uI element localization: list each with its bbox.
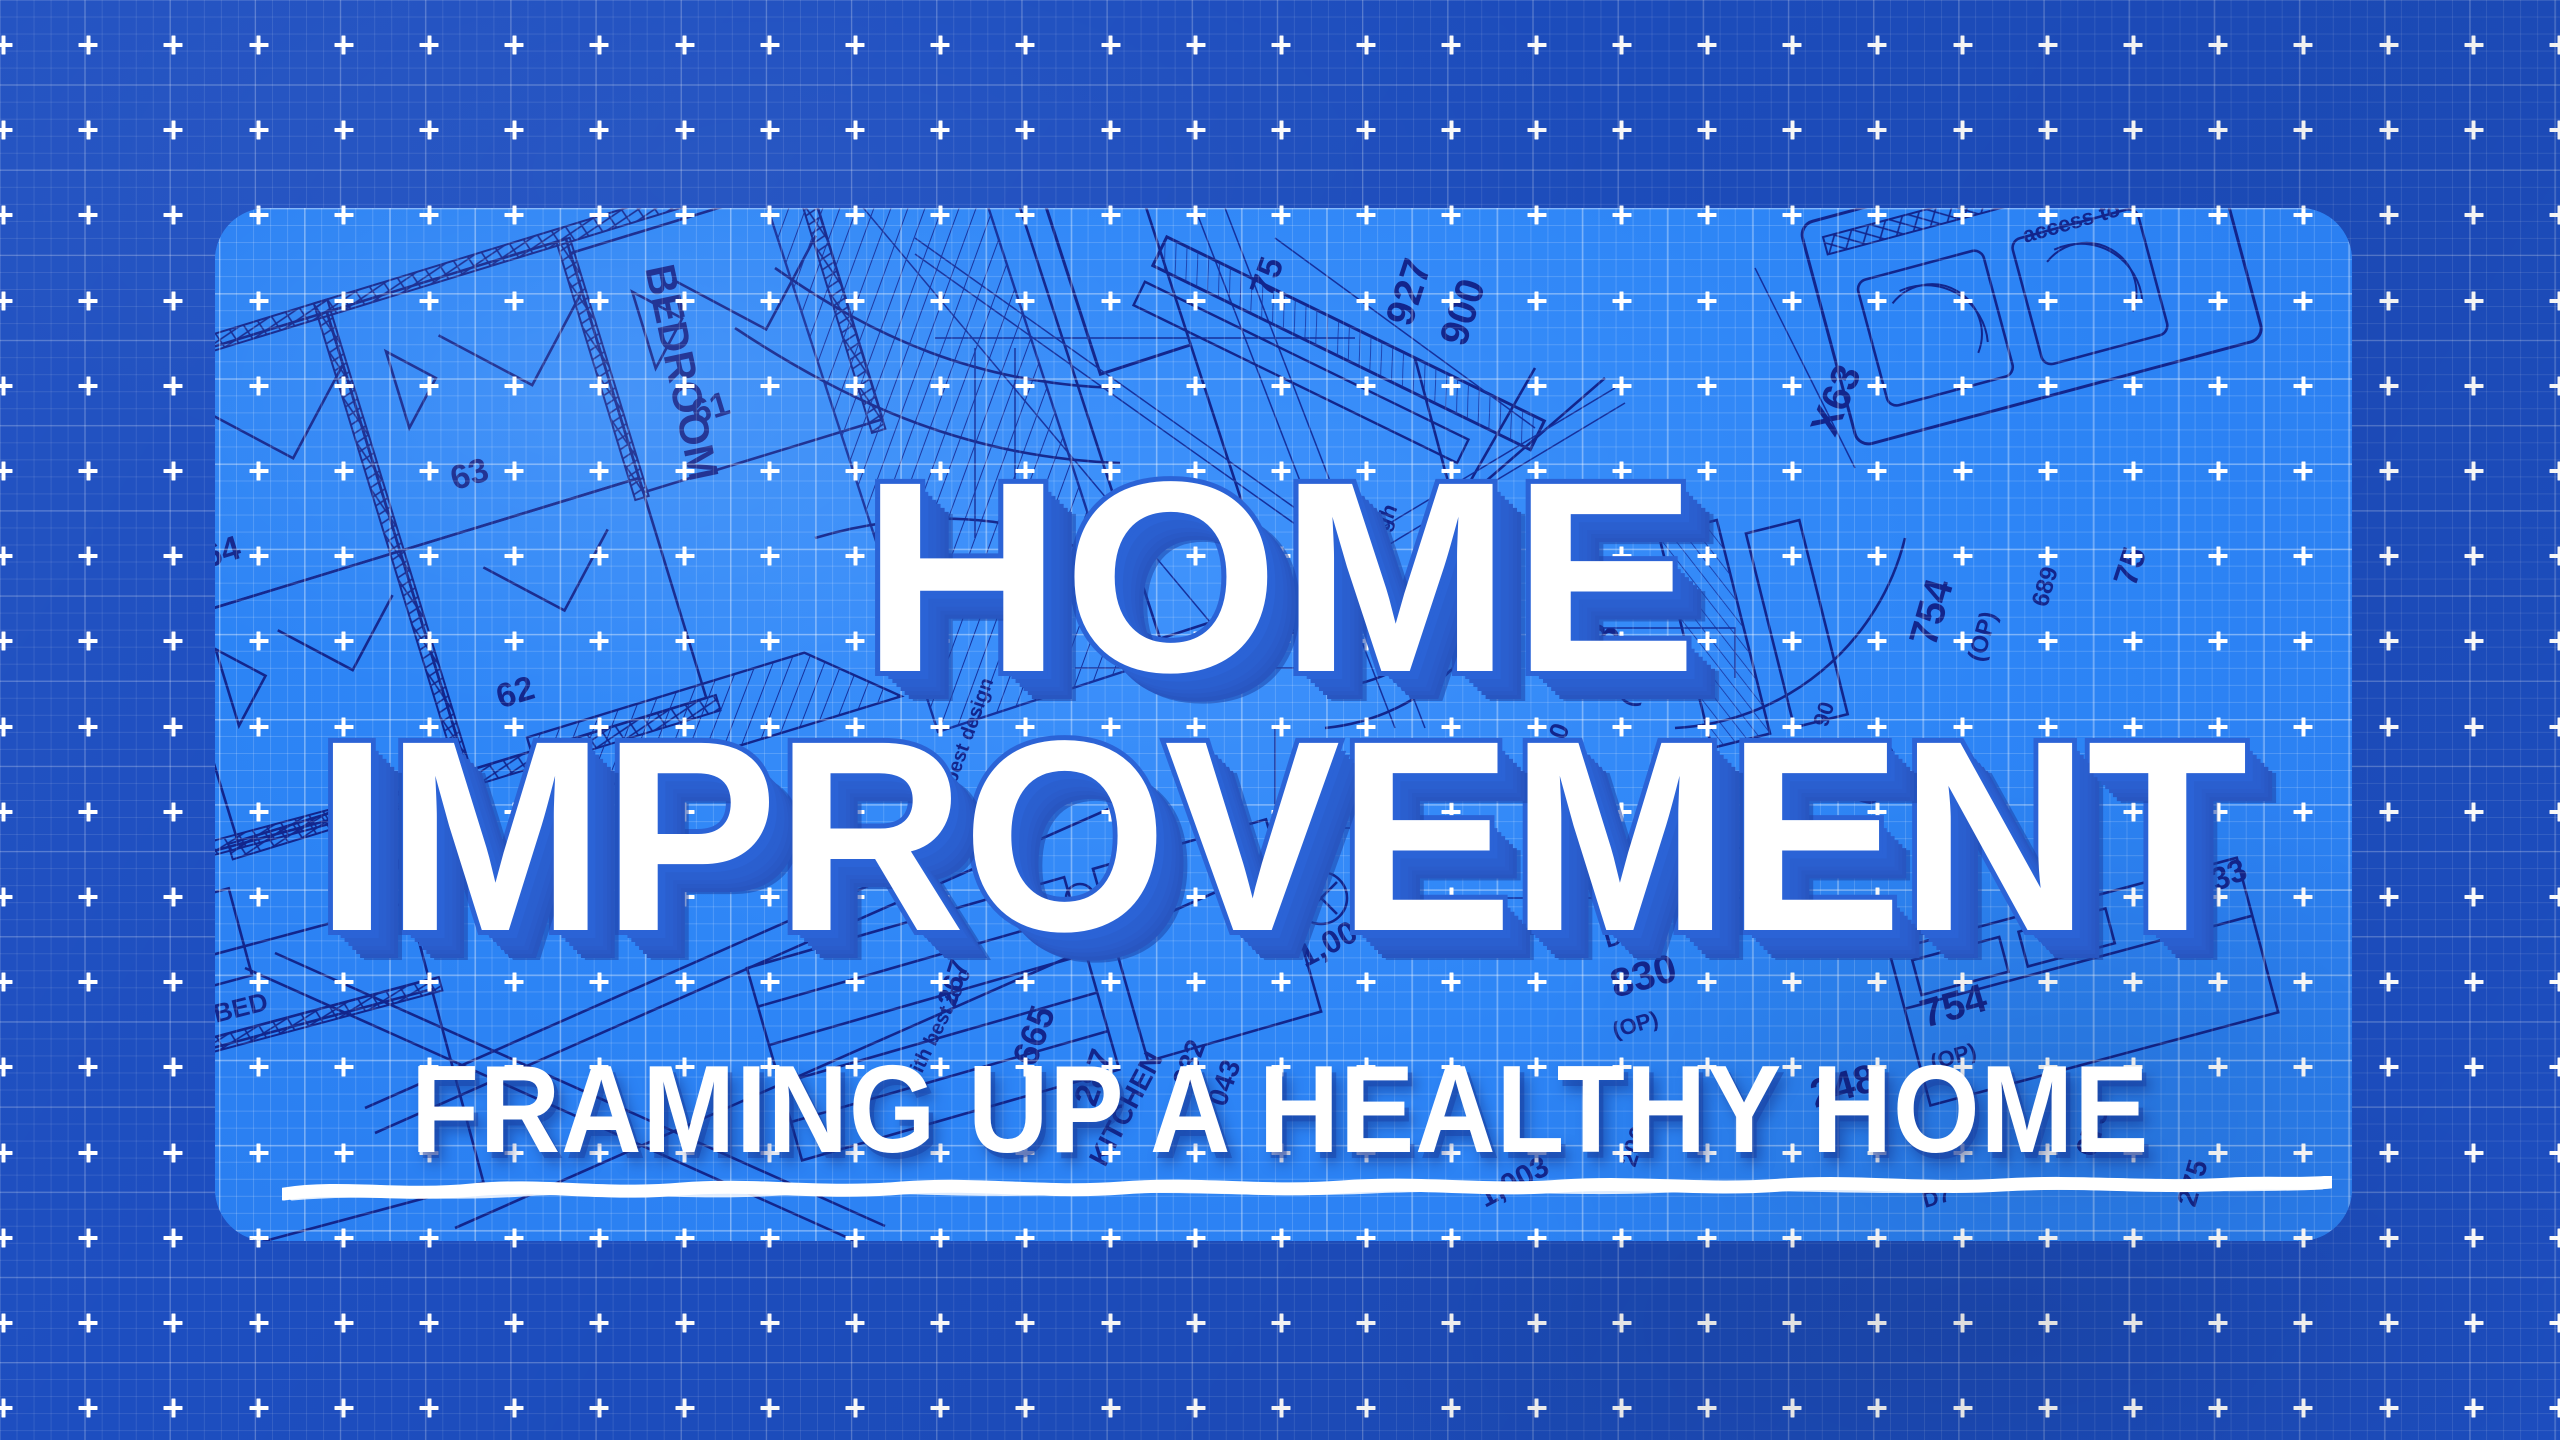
grid-plus-mark: [2209, 213, 2228, 217]
grid-plus-mark: [1272, 639, 1291, 643]
grid-plus-mark: [1868, 980, 1887, 984]
grid-plus-mark: [1101, 554, 1120, 558]
grid-plus-mark: [1186, 725, 1205, 729]
grid-plus-mark: [2550, 469, 2560, 473]
grid-plus-mark: [1272, 554, 1291, 558]
grid-plus-mark: [760, 895, 779, 899]
grid-plus-mark: [1612, 895, 1631, 899]
grid-plus-mark: [249, 639, 268, 643]
grid-plus-mark: [1186, 128, 1205, 132]
grid-plus-mark: [1272, 213, 1291, 217]
grid-plus-mark: [79, 1151, 98, 1155]
grid-plus-mark: [1357, 639, 1376, 643]
grid-plus-mark: [0, 1151, 13, 1155]
grid-plus-mark: [1357, 43, 1376, 47]
grid-plus-mark: [1868, 384, 1887, 388]
grid-plus-mark: [164, 639, 183, 643]
grid-plus-mark: [164, 43, 183, 47]
grid-plus-mark: [2209, 299, 2228, 303]
grid-plus-mark: [1783, 1151, 1802, 1155]
grid-plus-mark: [846, 1236, 865, 1240]
grid-plus-mark: [249, 213, 268, 217]
grid-plus-mark: [420, 469, 439, 473]
grid-plus-mark: [2464, 128, 2483, 132]
grid-plus-mark: [505, 1236, 524, 1240]
grid-plus-mark: [2124, 980, 2143, 984]
grid-plus-mark: [2379, 128, 2398, 132]
grid-plus-mark: [1527, 810, 1546, 814]
grid-plus-mark: [2124, 1065, 2143, 1069]
grid-plus-mark: [1101, 1406, 1120, 1410]
grid-plus-mark: [79, 43, 98, 47]
grid-plus-mark: [1357, 469, 1376, 473]
grid-plus-mark: [2294, 469, 2313, 473]
grid-plus-mark: [1272, 1151, 1291, 1155]
grid-plus-mark: [0, 895, 13, 899]
grid-plus-mark: [164, 469, 183, 473]
grid-plus-mark: [1442, 1151, 1461, 1155]
grid-plus-mark: [1783, 980, 1802, 984]
grid-plus-mark: [1612, 469, 1631, 473]
grid-plus-mark: [2294, 384, 2313, 388]
grid-plus-mark: [2124, 128, 2143, 132]
grid-plus-mark: [846, 128, 865, 132]
grid-plus-mark: [2124, 1321, 2143, 1325]
grid-plus-mark: [675, 213, 694, 217]
grid-plus-mark: [931, 980, 950, 984]
grid-plus-mark: [0, 43, 13, 47]
grid-plus-mark: [2209, 1236, 2228, 1240]
grid-plus-mark: [2209, 1151, 2228, 1155]
grid-plus-mark: [590, 554, 609, 558]
grid-plus-mark: [931, 810, 950, 814]
grid-plus-mark: [1868, 1151, 1887, 1155]
grid-plus-mark: [1527, 554, 1546, 558]
grid-plus-mark: [1016, 1065, 1035, 1069]
grid-plus-mark: [1783, 469, 1802, 473]
grid-plus-mark: [2209, 43, 2228, 47]
grid-plus-mark: [0, 1236, 13, 1240]
grid-plus-mark: [1868, 554, 1887, 558]
grid-plus-mark: [1272, 299, 1291, 303]
grid-plus-mark: [1442, 1065, 1461, 1069]
grid-plus-mark: [1527, 980, 1546, 984]
grid-plus-mark: [1953, 213, 1972, 217]
grid-plus-mark: [1442, 554, 1461, 558]
grid-plus-mark: [590, 128, 609, 132]
grid-plus-mark: [590, 469, 609, 473]
grid-plus-mark: [2209, 895, 2228, 899]
grid-plus-mark: [1101, 980, 1120, 984]
grid-plus-mark: [420, 1151, 439, 1155]
grid-plus-mark: [334, 43, 353, 47]
grid-plus-mark: [846, 1151, 865, 1155]
grid-plus-mark: [249, 469, 268, 473]
grid-plus-mark: [1612, 1151, 1631, 1155]
grid-plus-mark: [760, 469, 779, 473]
grid-plus-mark: [675, 639, 694, 643]
grid-plus-mark: [1953, 384, 1972, 388]
grid-plus-mark: [760, 1236, 779, 1240]
grid-plus-mark: [249, 725, 268, 729]
grid-plus-mark: [1953, 980, 1972, 984]
grid-plus-mark: [2209, 1065, 2228, 1069]
grid-plus-mark: [2464, 639, 2483, 643]
grid-plus-mark: [2038, 1065, 2057, 1069]
grid-plus-mark: [1953, 1065, 1972, 1069]
grid-plus-mark: [1272, 895, 1291, 899]
grid-plus-mark: [590, 1151, 609, 1155]
grid-plus-mark: [420, 299, 439, 303]
grid-plus-mark: [1868, 895, 1887, 899]
grid-plus-mark: [1783, 384, 1802, 388]
grid-plus-mark: [1868, 213, 1887, 217]
grid-plus-mark: [1016, 895, 1035, 899]
grid-plus-mark: [1101, 128, 1120, 132]
grid-plus-mark: [1612, 1236, 1631, 1240]
grid-plus-mark: [1016, 1406, 1035, 1410]
grid-plus-mark: [760, 299, 779, 303]
grid-plus-mark: [1698, 639, 1717, 643]
grid-plus-mark: [1783, 1406, 1802, 1410]
grid-plus-mark: [0, 1406, 13, 1410]
grid-plus-mark: [2124, 895, 2143, 899]
grid-plus-mark: [1016, 810, 1035, 814]
grid-plus-mark: [1527, 1065, 1546, 1069]
grid-plus-mark: [79, 299, 98, 303]
grid-plus-mark: [2294, 1236, 2313, 1240]
grid-plus-mark: [2294, 725, 2313, 729]
grid-plus-mark: [1527, 128, 1546, 132]
grid-plus-mark: [1868, 1321, 1887, 1325]
grid-plus-mark: [2038, 810, 2057, 814]
grid-plus-mark: [0, 725, 13, 729]
grid-plus-mark: [1783, 810, 1802, 814]
grid-plus-mark: [1953, 1151, 1972, 1155]
grid-plus-mark: [2379, 725, 2398, 729]
grid-plus-mark: [1357, 980, 1376, 984]
grid-plus-mark: [1698, 1406, 1717, 1410]
grid-plus-mark: [505, 554, 524, 558]
grid-plus-mark: [1101, 895, 1120, 899]
grid-plus-mark: [2209, 1406, 2228, 1410]
grid-plus-mark: [590, 639, 609, 643]
grid-plus-mark: [675, 384, 694, 388]
grid-plus-mark: [931, 1151, 950, 1155]
grid-plus-mark: [0, 469, 13, 473]
grid-plus-mark: [420, 384, 439, 388]
grid-plus-mark: [2379, 980, 2398, 984]
grid-plus-mark: [931, 639, 950, 643]
grid-plus-mark: [1698, 1321, 1717, 1325]
grid-plus-mark: [2294, 43, 2313, 47]
grid-plus-mark: [1357, 128, 1376, 132]
grid-plus-mark: [79, 1321, 98, 1325]
grid-plus-mark: [164, 810, 183, 814]
grid-plus-mark: [1442, 810, 1461, 814]
grid-plus-mark: [2124, 1236, 2143, 1240]
grid-plus-mark: [1357, 384, 1376, 388]
grid-plus-mark: [2294, 639, 2313, 643]
grid-plus-mark: [2209, 1321, 2228, 1325]
grid-plus-mark: [1016, 128, 1035, 132]
grid-plus-mark: [2464, 810, 2483, 814]
grid-plus-mark: [334, 1065, 353, 1069]
grid-plus-mark: [1612, 639, 1631, 643]
grid-plus-mark: [1186, 810, 1205, 814]
grid-plus-mark: [0, 128, 13, 132]
grid-plus-mark: [1442, 213, 1461, 217]
grid-plus-mark: [1186, 895, 1205, 899]
grid-plus-mark: [1783, 1065, 1802, 1069]
grid-plus-mark: [1527, 299, 1546, 303]
grid-plus-mark: [2550, 384, 2560, 388]
grid-plus-mark: [164, 1151, 183, 1155]
grid-plus-mark: [2464, 43, 2483, 47]
grid-plus-mark: [1272, 725, 1291, 729]
grid-plus-mark: [249, 810, 268, 814]
grid-plus-mark: [1442, 128, 1461, 132]
grid-plus-mark: [931, 725, 950, 729]
grid-plus-mark: [2209, 810, 2228, 814]
grid-plus-mark: [1442, 639, 1461, 643]
grid-plus-mark: [2550, 1406, 2560, 1410]
grid-plus-mark: [1868, 299, 1887, 303]
grid-plus-mark: [1612, 725, 1631, 729]
grid-plus-mark: [846, 980, 865, 984]
grid-plus-mark: [760, 1406, 779, 1410]
grid-plus-mark: [420, 895, 439, 899]
grid-plus-mark: [164, 895, 183, 899]
grid-plus-mark: [931, 213, 950, 217]
grid-plus-mark: [931, 43, 950, 47]
grid-plus-mark: [1357, 1151, 1376, 1155]
grid-plus-mark: [2379, 43, 2398, 47]
grid-plus-mark: [2294, 554, 2313, 558]
grid-plus-mark: [2550, 725, 2560, 729]
grid-plus-mark: [2209, 980, 2228, 984]
grid-plus-mark: [931, 299, 950, 303]
grid-plus-mark: [1101, 1151, 1120, 1155]
grid-plus-mark: [1953, 1236, 1972, 1240]
grid-plus-mark: [846, 213, 865, 217]
grid-plus-mark: [1612, 213, 1631, 217]
blueprint-panel: 64 63 62 61 ME BEDROOM: [215, 208, 2352, 1241]
grid-plus-mark: [1016, 980, 1035, 984]
grid-plus-mark: [1527, 1321, 1546, 1325]
grid-plus-mark: [79, 1065, 98, 1069]
grid-plus-mark: [931, 469, 950, 473]
grid-plus-mark: [1783, 213, 1802, 217]
grid-plus-mark: [79, 895, 98, 899]
grid-plus-mark: [2294, 810, 2313, 814]
grid-plus-mark: [2124, 384, 2143, 388]
grid-plus-mark: [1442, 469, 1461, 473]
grid-plus-mark: [334, 554, 353, 558]
grid-plus-mark: [1442, 1406, 1461, 1410]
grid-plus-mark: [1698, 554, 1717, 558]
grid-plus-mark: [164, 980, 183, 984]
grid-plus-mark: [1783, 299, 1802, 303]
grid-plus-mark: [846, 1321, 865, 1325]
grid-plus-mark: [2038, 554, 2057, 558]
grid-plus-mark: [931, 895, 950, 899]
grid-plus-mark: [2038, 639, 2057, 643]
grid-plus-mark: [1527, 1151, 1546, 1155]
grid-plus-mark: [1698, 213, 1717, 217]
grid-plus-mark: [1612, 43, 1631, 47]
grid-plus-mark: [760, 810, 779, 814]
grid-plus-mark: [1783, 1236, 1802, 1240]
grid-plus-mark: [505, 1151, 524, 1155]
grid-plus-mark: [1186, 43, 1205, 47]
grid-plus-mark: [2124, 1406, 2143, 1410]
grid-plus-mark: [2209, 725, 2228, 729]
grid-plus-mark: [505, 810, 524, 814]
grid-plus-mark: [1868, 639, 1887, 643]
grid-plus-mark: [1783, 639, 1802, 643]
grid-plus-mark: [1698, 725, 1717, 729]
grid-plus-mark: [1442, 725, 1461, 729]
grid-plus-mark: [2124, 810, 2143, 814]
grid-plus-mark: [505, 469, 524, 473]
grid-plus-mark: [2550, 554, 2560, 558]
grid-plus-mark: [675, 1065, 694, 1069]
grid-plus-mark: [1612, 299, 1631, 303]
grid-plus-mark: [2124, 725, 2143, 729]
grid-plus-mark: [1442, 1236, 1461, 1240]
grid-plus-mark: [505, 1321, 524, 1325]
grid-plus-mark: [249, 1151, 268, 1155]
grid-plus-mark: [2294, 1406, 2313, 1410]
grid-plus-mark: [1953, 43, 1972, 47]
grid-plus-mark: [1186, 1065, 1205, 1069]
grid-plus-mark: [420, 128, 439, 132]
grid-plus-mark: [1783, 554, 1802, 558]
grid-plus-mark: [1953, 810, 1972, 814]
grid-plus-mark: [1272, 1406, 1291, 1410]
grid-plus-mark: [1016, 469, 1035, 473]
grid-plus-mark: [249, 554, 268, 558]
grid-plus-mark: [249, 1236, 268, 1240]
grid-plus-mark: [1101, 43, 1120, 47]
grid-plus-mark: [505, 639, 524, 643]
grid-plus-mark: [675, 1406, 694, 1410]
grid-plus-mark: [1953, 128, 1972, 132]
grid-plus-mark: [164, 299, 183, 303]
grid-plus-mark: [164, 128, 183, 132]
grid-plus-mark: [1868, 1406, 1887, 1410]
grid-plus-mark: [420, 639, 439, 643]
grid-plus-mark: [334, 1151, 353, 1155]
grid-plus-mark: [590, 213, 609, 217]
grid-plus-mark: [846, 895, 865, 899]
grid-plus-mark: [164, 384, 183, 388]
grid-plus-mark: [1868, 128, 1887, 132]
grid-plus-mark: [2038, 725, 2057, 729]
grid-plus-mark: [505, 43, 524, 47]
grid-plus-mark: [1783, 43, 1802, 47]
grid-plus-mark: [2294, 980, 2313, 984]
grid-plus-mark: [2550, 1236, 2560, 1240]
grid-plus-mark: [760, 213, 779, 217]
grid-plus-mark: [2124, 554, 2143, 558]
grid-plus-mark: [505, 299, 524, 303]
grid-plus-mark: [1016, 299, 1035, 303]
grid-plus-mark: [1272, 43, 1291, 47]
grid-plus-mark: [1101, 810, 1120, 814]
grid-plus-mark: [420, 1065, 439, 1069]
grid-plus-mark: [2379, 299, 2398, 303]
grid-plus-mark: [846, 384, 865, 388]
grid-plus-mark: [675, 1151, 694, 1155]
grid-plus-mark: [79, 213, 98, 217]
grid-plus-mark: [1442, 384, 1461, 388]
grid-plus-mark: [1186, 980, 1205, 984]
grid-plus-mark: [2038, 1151, 2057, 1155]
grid-plus-mark: [2038, 980, 2057, 984]
grid-plus-mark: [2124, 639, 2143, 643]
grid-plus-mark: [1612, 554, 1631, 558]
grid-plus-mark: [334, 1236, 353, 1240]
grid-plus-mark: [846, 469, 865, 473]
grid-plus-mark: [2550, 1321, 2560, 1325]
grid-plus-mark: [420, 725, 439, 729]
grid-plus-mark: [505, 128, 524, 132]
grid-plus-mark: [334, 810, 353, 814]
grid-plus-mark: [334, 213, 353, 217]
grid-plus-mark: [334, 980, 353, 984]
grid-plus-mark: [1527, 43, 1546, 47]
grid-plus-mark: [2379, 384, 2398, 388]
grid-plus-mark: [1612, 1321, 1631, 1325]
grid-plus-mark: [1527, 213, 1546, 217]
grid-plus-mark: [931, 384, 950, 388]
grid-plus-mark: [2550, 810, 2560, 814]
grid-plus-mark: [2464, 1065, 2483, 1069]
grid-plus-mark: [1783, 895, 1802, 899]
grid-plus-mark: [1868, 469, 1887, 473]
grid-plus-mark: [1612, 1065, 1631, 1069]
grid-plus-mark: [1186, 639, 1205, 643]
grid-plus-mark: [2464, 469, 2483, 473]
grid-plus-mark: [334, 1406, 353, 1410]
grid-plus-mark: [931, 128, 950, 132]
grid-plus-mark: [2550, 299, 2560, 303]
grid-plus-mark: [2038, 213, 2057, 217]
grid-plus-mark: [675, 895, 694, 899]
grid-plus-mark: [79, 639, 98, 643]
grid-plus-mark: [1953, 469, 1972, 473]
grid-plus-mark: [164, 1236, 183, 1240]
grid-plus-mark: [675, 299, 694, 303]
grid-plus-mark: [760, 384, 779, 388]
grid-plus-mark: [1868, 43, 1887, 47]
grid-plus-mark: [2038, 895, 2057, 899]
grid-plus-mark: [334, 128, 353, 132]
grid-plus-mark: [2550, 639, 2560, 643]
grid-plus-mark: [164, 1065, 183, 1069]
grid-plus-mark: [1016, 1236, 1035, 1240]
grid-plus-mark: [931, 1236, 950, 1240]
grid-plus-mark: [1016, 1321, 1035, 1325]
grid-plus-mark: [249, 1406, 268, 1410]
grid-plus-mark: [1357, 1236, 1376, 1240]
grid-plus-mark: [1357, 895, 1376, 899]
grid-plus-mark: [1101, 213, 1120, 217]
grid-plus-mark: [0, 384, 13, 388]
grid-plus-mark: [79, 980, 98, 984]
